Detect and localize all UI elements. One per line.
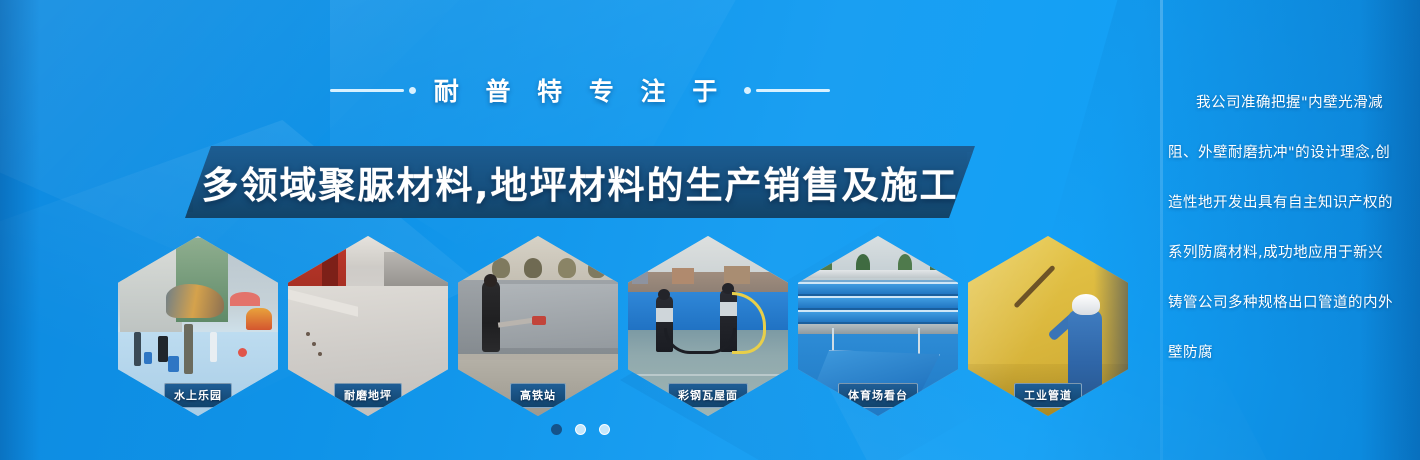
headline-wrap: 多领域聚脲材料,地坪材料的生产销售及施工 [0,146,1160,218]
hexagon-caption: 高铁站 [510,383,566,408]
background-edge-left [0,0,40,460]
decorative-line-left-icon [330,87,416,94]
eyebrow-text: 耐 普 特 专 注 于 [434,72,727,108]
hexagon-gallery: 水上乐园 耐磨地坪 高铁站 [118,236,1148,416]
vertical-divider [1160,0,1163,460]
hexagon-item-stadium-grandstand[interactable]: 体育场看台 [798,236,958,416]
hexagon-item-rail-station[interactable]: 高铁站 [458,236,618,416]
promo-banner: 耐 普 特 专 注 于 多领域聚脲材料,地坪材料的生产销售及施工 水上乐园 [0,0,1420,460]
hexagon-caption: 水上乐园 [164,383,232,408]
carousel-dot-2[interactable] [575,424,586,435]
hexagon-item-steel-tile-roof[interactable]: 彩钢瓦屋面 [628,236,788,416]
company-description-paragraph: 我公司准确把握"内壁光滑减阻、外壁耐磨抗冲"的设计理念,创造性地开发出具有自主知… [1168,78,1396,378]
hexagon-item-water-park[interactable]: 水上乐园 [118,236,278,416]
background-facet [0,0,500,260]
hexagon-caption: 工业管道 [1014,383,1082,408]
hexagon-caption: 彩钢瓦屋面 [668,383,748,408]
carousel-dot-3[interactable] [599,424,610,435]
carousel-dot-1[interactable] [551,424,562,435]
hexagon-item-wear-resistant-floor[interactable]: 耐磨地坪 [288,236,448,416]
hexagon-item-industrial-pipeline[interactable]: 工业管道 [968,236,1128,416]
headline-banner: 多领域聚脲材料,地坪材料的生产销售及施工 [185,146,975,218]
hexagon-caption: 体育场看台 [838,383,918,408]
carousel-dots [0,424,1160,435]
decorative-line-right-icon [744,87,830,94]
eyebrow-row: 耐 普 特 专 注 于 [0,72,1160,108]
hexagon-caption: 耐磨地坪 [334,383,402,408]
headline-text: 多领域聚脲材料,地坪材料的生产销售及施工 [201,155,958,209]
